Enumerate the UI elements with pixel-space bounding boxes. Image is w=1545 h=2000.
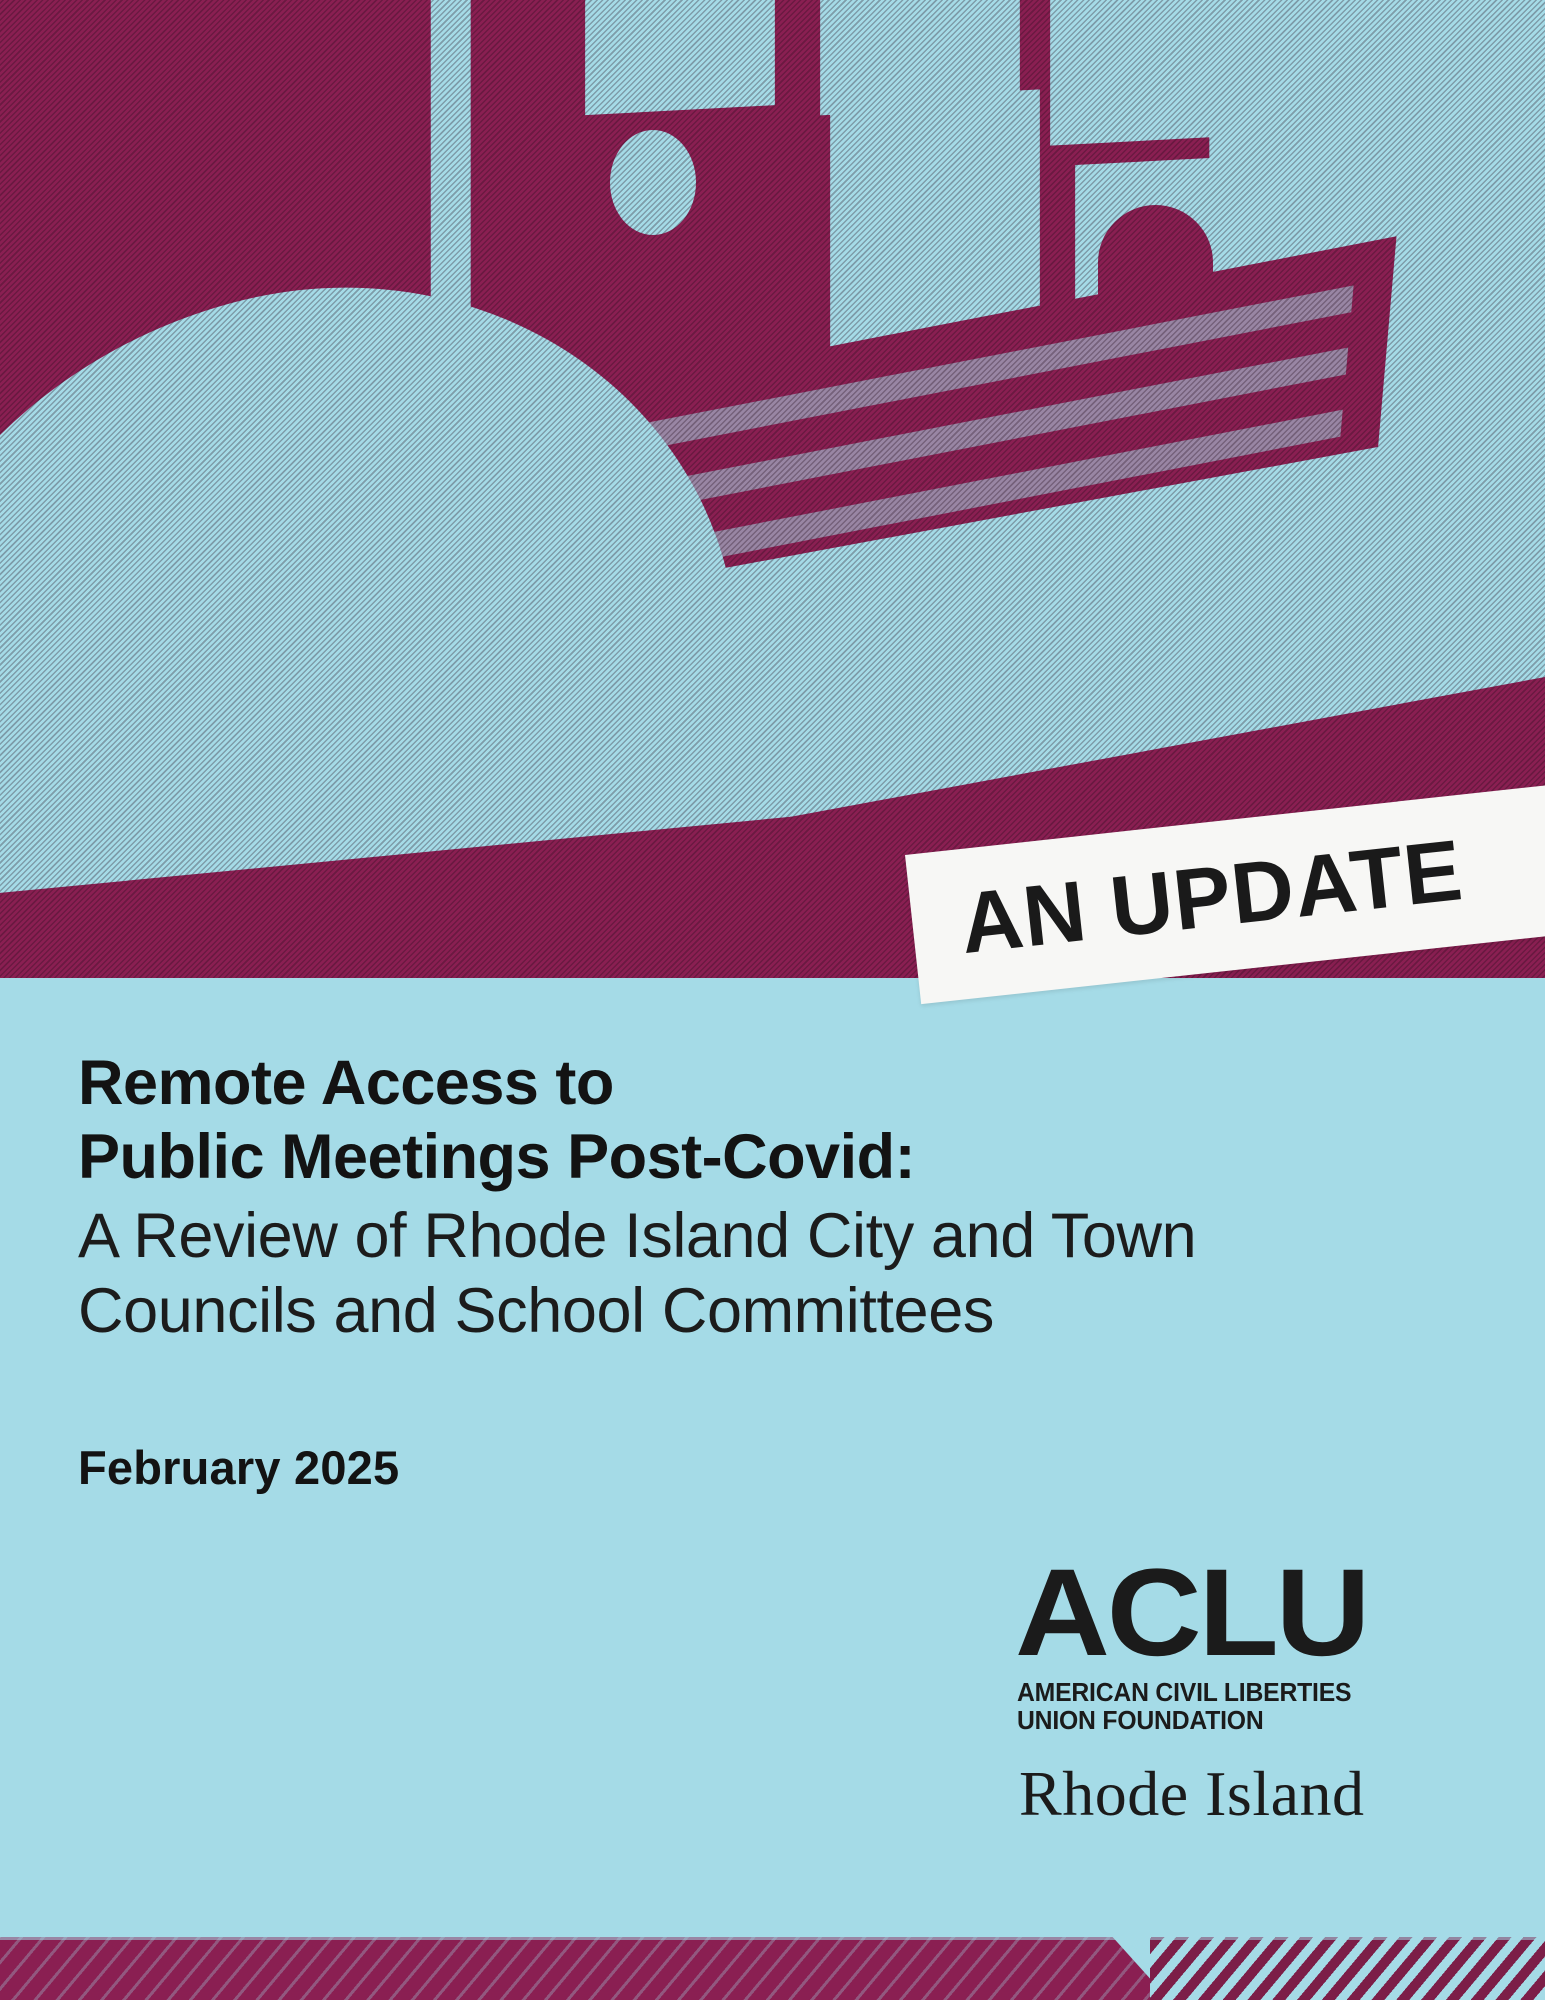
report-cover-page: AN UPDATE Remote Access to Public Meetin… [0, 0, 1545, 2000]
cover-content-panel: Remote Access to Public Meetings Post-Co… [0, 978, 1545, 1938]
page-title-line-2: Public Meetings Post-Covid: [78, 1120, 1398, 1194]
aclu-logo-acronym: ACLU [1015, 1560, 1439, 1667]
page-title-line-1: Remote Access to [78, 1046, 1398, 1120]
bottom-bar-top-rule [0, 1937, 1545, 1940]
video-tile-icon [1050, 0, 1260, 146]
page-subtitle: A Review of Rhode Island City and Town C… [78, 1199, 1398, 1350]
bottom-bar-striped-segment [1150, 1937, 1545, 2000]
title-block: Remote Access to Public Meetings Post-Co… [78, 1046, 1398, 1350]
video-tile-icon [585, 0, 775, 115]
aclu-logo-full-name: AMERICAN CIVIL LIBERTIES UNION FOUNDATIO… [1017, 1679, 1364, 1736]
update-badge-label: AN UPDATE [908, 827, 1466, 972]
page-subtitle-line-2: Councils and School Committees [78, 1274, 1398, 1350]
aclu-logo-affiliate: Rhode Island [1019, 1762, 1415, 1826]
participant-head-icon [610, 130, 696, 235]
bottom-bar-solid-segment [0, 1937, 1165, 2000]
publication-date: February 2025 [78, 1440, 399, 1495]
page-subtitle-line-1: A Review of Rhode Island City and Town [78, 1199, 1398, 1275]
aclu-logo: ACLU AMERICAN CIVIL LIBERTIES UNION FOUN… [1015, 1560, 1415, 1826]
bottom-stripe-bar [0, 1937, 1545, 2000]
